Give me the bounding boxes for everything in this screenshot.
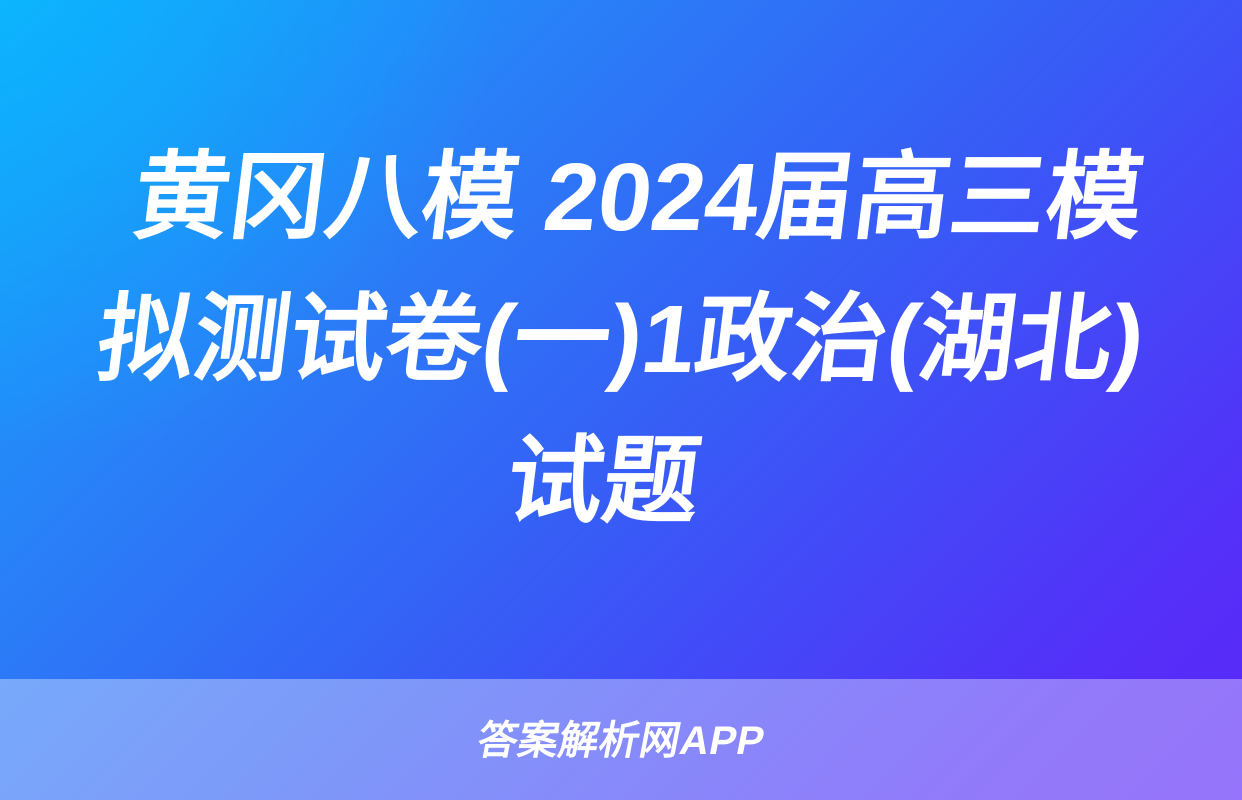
- footer-watermark-band: 答案解析网APP: [0, 679, 1242, 800]
- title-block: 黄冈八模 2024届高三模拟测试卷(一)1政治(湖北)试题: [0, 0, 1242, 680]
- page-title: 黄冈八模 2024届高三模拟测试卷(一)1政治(湖北)试题: [44, 127, 1198, 553]
- promo-card: 黄冈八模 2024届高三模拟测试卷(一)1政治(湖北)试题 答案解析网APP: [0, 0, 1242, 800]
- app-watermark-label: 答案解析网APP: [474, 721, 768, 761]
